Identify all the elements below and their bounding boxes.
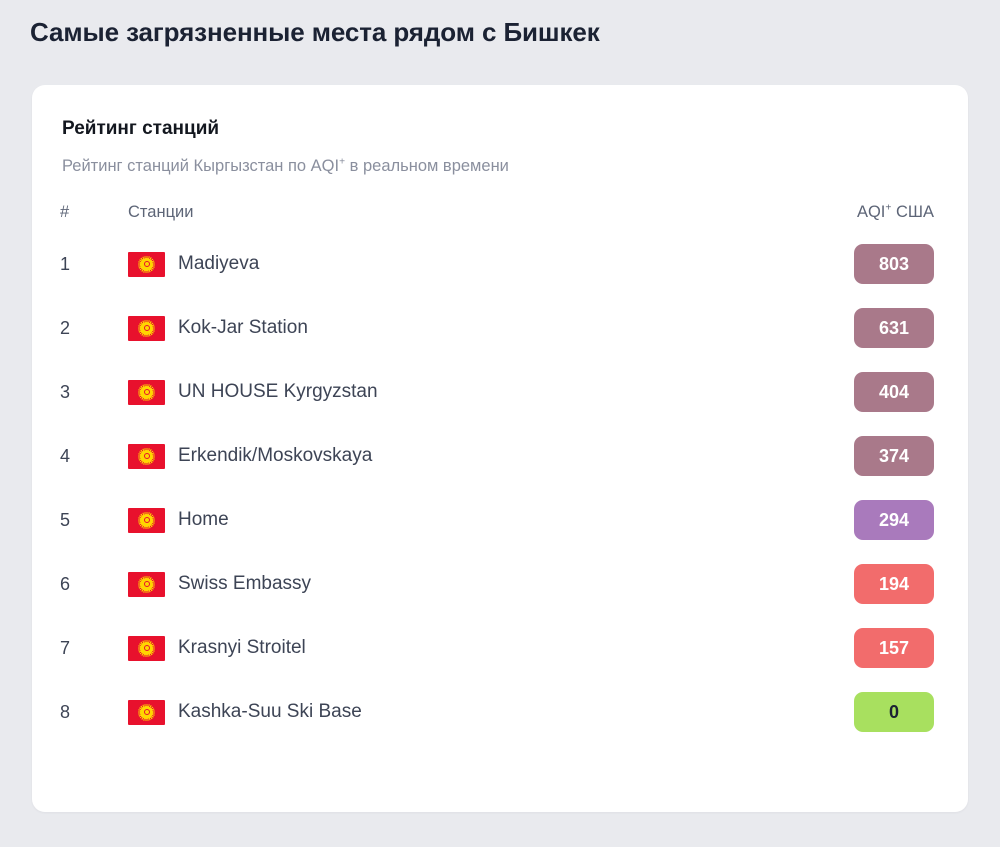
station-cell: Swiss Embassy — [128, 572, 764, 597]
page-root: Самые загрязненные места рядом с Бишкек … — [0, 0, 1000, 847]
card-subtitle: Рейтинг станций Кыргызстан по AQI+ в реа… — [62, 156, 938, 177]
row-station-cell[interactable]: Madiyeva — [122, 232, 764, 296]
station-ranking-card: Рейтинг станций Рейтинг станций Кыргызст… — [32, 85, 968, 812]
rank-number: 2 — [60, 318, 70, 338]
page-title: Самые загрязненные места рядом с Бишкек — [0, 0, 1000, 50]
rank-number: 4 — [60, 446, 70, 466]
flag-kyrgyzstan-icon — [128, 316, 165, 341]
table-row[interactable]: 3 UN HOUSE Kyrgyzstan 404 — [32, 360, 968, 424]
station-name: Kok-Jar Station — [178, 317, 308, 340]
rank-number: 8 — [60, 702, 70, 722]
station-cell: Krasnyi Stroitel — [128, 636, 764, 661]
card-title: Рейтинг станций — [62, 117, 938, 142]
row-aqi-cell: 803 — [764, 232, 968, 296]
table-row[interactable]: 4 Erkendik/Moskovskaya 374 — [32, 424, 968, 488]
row-aqi-cell: 194 — [764, 552, 968, 616]
flag-kyrgyzstan-icon — [128, 380, 165, 405]
row-aqi-cell: 404 — [764, 360, 968, 424]
row-rank-cell: 1 — [32, 232, 122, 296]
table-row[interactable]: 2 Kok-Jar Station 631 — [32, 296, 968, 360]
table-body: 1 Madiyeva 803 2 — [32, 232, 968, 744]
row-station-cell[interactable]: Kok-Jar Station — [122, 296, 764, 360]
table-header: # Станции AQI+ США — [32, 203, 968, 232]
rank-number: 1 — [60, 254, 70, 274]
row-rank-cell: 5 — [32, 488, 122, 552]
row-rank-cell: 6 — [32, 552, 122, 616]
row-rank-cell: 3 — [32, 360, 122, 424]
row-station-cell[interactable]: Home — [122, 488, 764, 552]
row-aqi-cell: 374 — [764, 424, 968, 488]
row-aqi-cell: 157 — [764, 616, 968, 680]
table-row[interactable]: 8 Kashka-Suu Ski Base 0 — [32, 680, 968, 744]
card-subtitle-before: Рейтинг станций Кыргызстан по AQI — [62, 157, 339, 175]
table-header-row: # Станции AQI+ США — [32, 203, 968, 232]
rank-number: 3 — [60, 382, 70, 402]
station-name: Swiss Embassy — [178, 573, 311, 596]
station-cell: Kashka-Suu Ski Base — [128, 700, 764, 725]
row-station-cell[interactable]: Swiss Embassy — [122, 552, 764, 616]
aqi-badge: 631 — [854, 308, 934, 349]
station-name: Krasnyi Stroitel — [178, 637, 306, 660]
station-name: Home — [178, 509, 229, 532]
aqi-badge: 803 — [854, 244, 934, 285]
station-cell: UN HOUSE Kyrgyzstan — [128, 380, 764, 405]
row-aqi-cell: 294 — [764, 488, 968, 552]
flag-kyrgyzstan-icon — [128, 572, 165, 597]
flag-kyrgyzstan-icon — [128, 700, 165, 725]
station-cell: Erkendik/Moskovskaya — [128, 444, 764, 469]
row-station-cell[interactable]: Krasnyi Stroitel — [122, 616, 764, 680]
row-rank-cell: 4 — [32, 424, 122, 488]
aqi-badge: 157 — [854, 628, 934, 669]
row-station-cell[interactable]: UN HOUSE Kyrgyzstan — [122, 360, 764, 424]
table-row[interactable]: 7 Krasnyi Stroitel 157 — [32, 616, 968, 680]
card-subtitle-after: в реальном времени — [345, 157, 509, 175]
aqi-badge: 294 — [854, 500, 934, 541]
row-aqi-cell: 631 — [764, 296, 968, 360]
table-row[interactable]: 6 Swiss Embassy 194 — [32, 552, 968, 616]
row-rank-cell: 2 — [32, 296, 122, 360]
row-rank-cell: 7 — [32, 616, 122, 680]
header-rank: # — [32, 203, 122, 232]
aqi-badge: 194 — [854, 564, 934, 605]
aqi-badge: 374 — [854, 436, 934, 477]
row-rank-cell: 8 — [32, 680, 122, 744]
row-station-cell[interactable]: Erkendik/Moskovskaya — [122, 424, 764, 488]
rank-number: 6 — [60, 574, 70, 594]
header-aqi-after: США — [891, 203, 934, 221]
header-station: Станции — [122, 203, 764, 232]
station-name: Erkendik/Moskovskaya — [178, 445, 372, 468]
flag-kyrgyzstan-icon — [128, 508, 165, 533]
station-name: Madiyeva — [178, 253, 259, 276]
station-name: UN HOUSE Kyrgyzstan — [178, 381, 378, 404]
station-cell: Home — [128, 508, 764, 533]
rank-number: 7 — [60, 638, 70, 658]
rank-number: 5 — [60, 510, 70, 530]
table-row[interactable]: 5 Home 294 — [32, 488, 968, 552]
header-aqi-before: AQI — [857, 203, 885, 221]
station-cell: Kok-Jar Station — [128, 316, 764, 341]
row-aqi-cell: 0 — [764, 680, 968, 744]
station-name: Kashka-Suu Ski Base — [178, 701, 362, 724]
row-station-cell[interactable]: Kashka-Suu Ski Base — [122, 680, 764, 744]
flag-kyrgyzstan-icon — [128, 636, 165, 661]
station-cell: Madiyeva — [128, 252, 764, 277]
table-row[interactable]: 1 Madiyeva 803 — [32, 232, 968, 296]
card-header: Рейтинг станций Рейтинг станций Кыргызст… — [32, 85, 968, 177]
aqi-badge: 404 — [854, 372, 934, 413]
flag-kyrgyzstan-icon — [128, 444, 165, 469]
aqi-badge: 0 — [854, 692, 934, 733]
flag-kyrgyzstan-icon — [128, 252, 165, 277]
header-aqi: AQI+ США — [764, 203, 968, 232]
station-ranking-table: # Станции AQI+ США 1 Madiyeva — [32, 203, 968, 744]
